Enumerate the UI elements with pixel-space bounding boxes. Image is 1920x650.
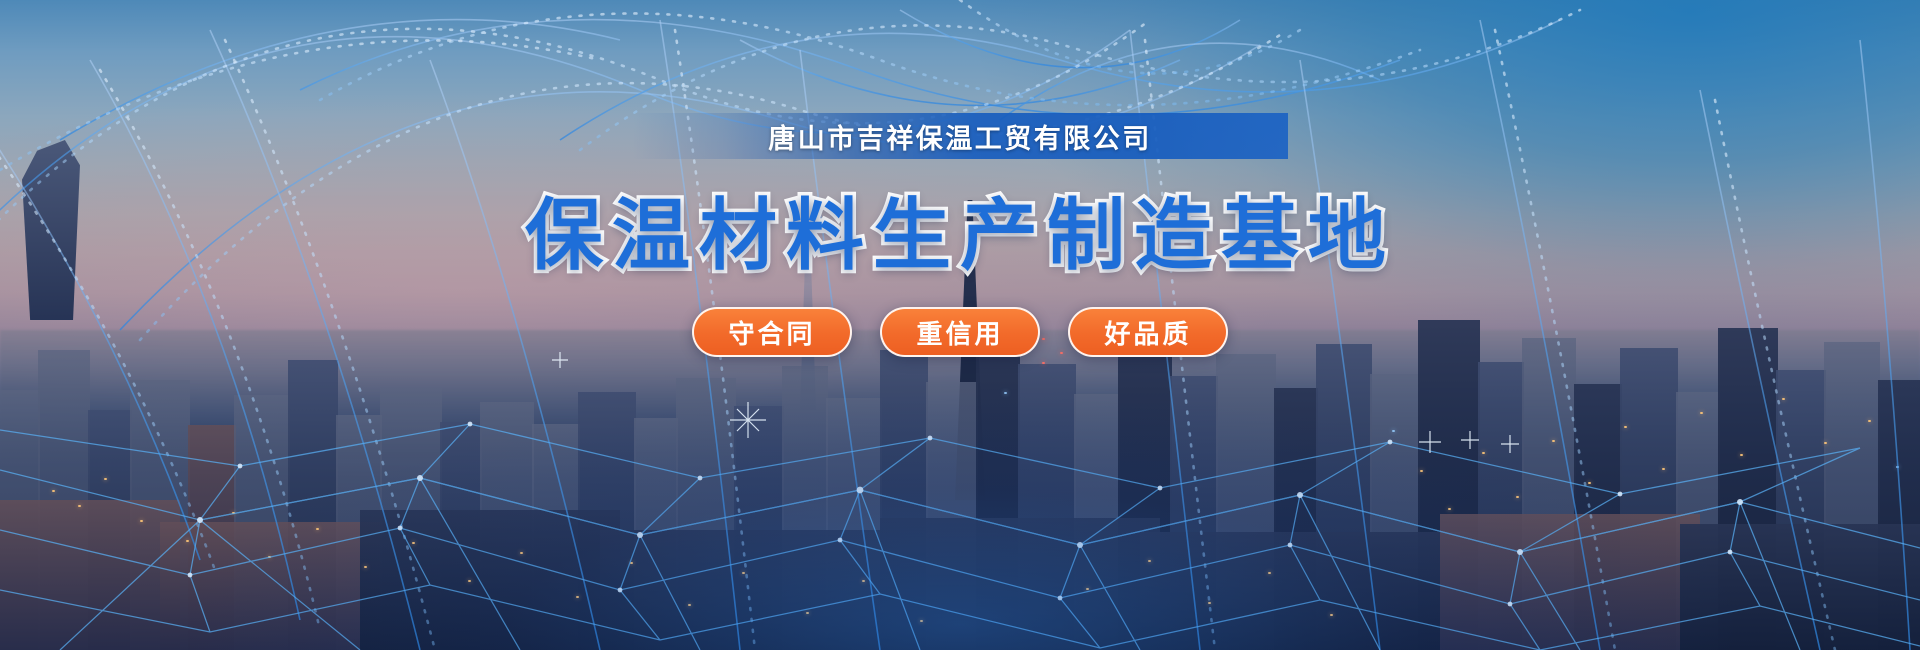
company-name-bar: 唐山市吉祥保温工贸有限公司 [632,113,1288,159]
feature-tag-label: 重信用 [916,314,1003,351]
feature-tag-label: 好品质 [1104,314,1191,351]
feature-tag-list: 守合同 重信用 好品质 [692,307,1228,357]
company-name-text: 唐山市吉祥保温工贸有限公司 [768,117,1152,156]
feature-tag-quality[interactable]: 好品质 [1068,307,1228,357]
feature-tag-contract[interactable]: 守合同 [692,307,852,357]
hero-banner: 唐山市吉祥保温工贸有限公司 保温材料生产制造基地 守合同 重信用 好品质 [0,0,1920,650]
feature-tag-label: 守合同 [728,314,815,351]
page-title: 保温材料生产制造基地 [525,173,1395,285]
feature-tag-credit[interactable]: 重信用 [880,307,1040,357]
banner-content: 唐山市吉祥保温工贸有限公司 保温材料生产制造基地 守合同 重信用 好品质 [0,0,1920,357]
